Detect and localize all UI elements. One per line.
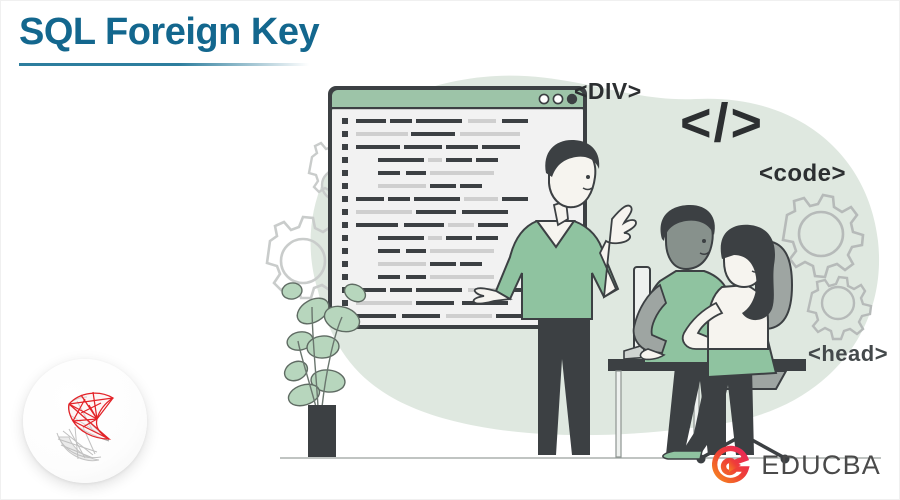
woman-shoe bbox=[663, 451, 702, 459]
educba-logo[interactable]: EDUCBA bbox=[712, 445, 881, 485]
window-dot-outline-1 bbox=[539, 94, 548, 103]
desk-leg-left bbox=[616, 371, 621, 457]
code-tag-code: <code> bbox=[759, 160, 846, 187]
window-dots bbox=[539, 94, 577, 104]
microsoft-sql-server-logo bbox=[23, 359, 147, 483]
hero-illustration: <DIV> </> <code> <head> bbox=[256, 41, 900, 500]
plant-pot bbox=[308, 405, 336, 457]
educba-wordmark: EDUCBA bbox=[761, 452, 881, 479]
educba-e-play-mark bbox=[712, 445, 752, 485]
code-tag-div: <DIV> bbox=[574, 78, 642, 104]
sql-server-badge bbox=[23, 359, 147, 483]
window-dot-outline-2 bbox=[553, 94, 562, 103]
code-tag-head: <head> bbox=[808, 341, 888, 366]
poster-canvas: SQL Foreign Key bbox=[0, 0, 900, 500]
code-tag-slash: </> bbox=[680, 93, 764, 153]
